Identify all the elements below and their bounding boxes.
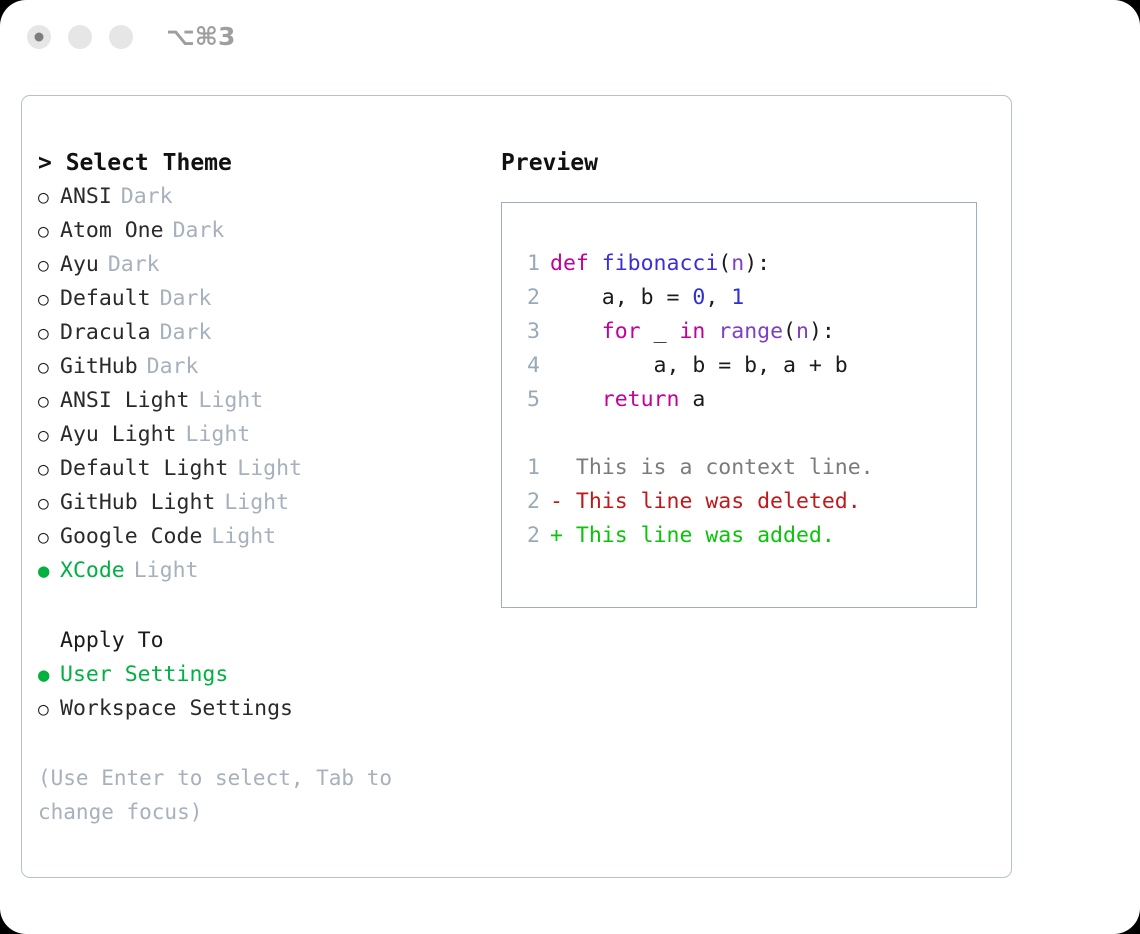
theme-option[interactable]: ○ANSI LightLight — [38, 384, 478, 418]
line-number: 2 — [512, 485, 550, 519]
theme-option[interactable]: ○Ayu LightLight — [38, 418, 478, 452]
radio-unselected-icon: ○ — [38, 283, 60, 317]
code-preview: 1def fibonacci(n):2 a, b = 0, 13 for _ i… — [512, 247, 972, 553]
line-number: 1 — [512, 247, 550, 281]
theme-option[interactable]: ●XCodeLight — [38, 554, 478, 588]
window-dot-minimize[interactable] — [68, 25, 92, 49]
code-token — [550, 387, 602, 412]
preview-column: Preview 1def fibonacci(n):2 a, b = 0, 13… — [501, 146, 991, 608]
code-token: a, b = — [550, 285, 692, 310]
theme-option-label: ANSI — [60, 180, 112, 214]
code-token: in — [679, 319, 705, 344]
line-number: 1 — [512, 451, 550, 485]
code-line-content: a, b = 0, 1 — [550, 281, 744, 315]
theme-option-label: XCode — [60, 554, 125, 588]
theme-option[interactable]: ○GitHub LightLight — [38, 486, 478, 520]
apply-to-list[interactable]: ●User Settings○Workspace Settings — [38, 658, 478, 726]
code-token: ( — [718, 251, 731, 276]
window-controls — [27, 25, 133, 49]
radio-unselected-icon: ○ — [38, 181, 60, 215]
theme-option-label: Atom One — [60, 214, 164, 248]
theme-option[interactable]: ○Google CodeLight — [38, 520, 478, 554]
diff-line: 2+ This line was added. — [512, 519, 972, 553]
code-token: ): — [809, 319, 835, 344]
code-token — [705, 319, 718, 344]
apply-to-option-label: User Settings — [60, 658, 228, 692]
code-token: 0 — [692, 285, 705, 310]
theme-option[interactable]: ○ANSIDark — [38, 180, 478, 214]
theme-option-variant: Light — [186, 418, 251, 452]
code-line: 2 a, b = 0, 1 — [512, 281, 972, 315]
code-line: 4 a, b = b, a + b — [512, 349, 972, 383]
theme-option-label: Ayu — [60, 248, 99, 282]
preview-box: 1def fibonacci(n):2 a, b = 0, 13 for _ i… — [501, 202, 977, 608]
radio-unselected-icon: ○ — [38, 521, 60, 555]
code-line: 5 return a — [512, 383, 972, 417]
radio-selected-icon: ● — [38, 554, 60, 588]
diff-line-content: - This line was deleted. — [550, 485, 861, 519]
theme-option-label: Default Light — [60, 452, 228, 486]
radio-unselected-icon: ○ — [38, 693, 60, 727]
code-line-content: for _ in range(n): — [550, 315, 835, 349]
apply-to-heading: Apply To — [60, 624, 478, 658]
code-token: _ — [641, 319, 680, 344]
code-token: for — [602, 319, 641, 344]
code-token: fibonacci — [602, 251, 719, 276]
radio-unselected-icon: ○ — [38, 385, 60, 419]
theme-option-variant: Light — [134, 554, 199, 588]
code-token — [550, 319, 602, 344]
diff-line: 1 This is a context line. — [512, 451, 972, 485]
theme-option-variant: Dark — [147, 350, 199, 384]
diff-line: 2- This line was deleted. — [512, 485, 972, 519]
preview-heading: Preview — [501, 146, 991, 180]
theme-option-variant: Dark — [160, 282, 212, 316]
theme-option[interactable]: ○DraculaDark — [38, 316, 478, 350]
window-dot-close-inner — [35, 33, 44, 42]
line-number: 2 — [512, 281, 550, 315]
code-token: def — [550, 251, 602, 276]
window-dot-maximize[interactable] — [109, 25, 133, 49]
theme-option[interactable]: ○GitHubDark — [38, 350, 478, 384]
theme-option-label: GitHub Light — [60, 486, 215, 520]
theme-option-variant: Light — [198, 384, 263, 418]
theme-option-variant: Dark — [173, 214, 225, 248]
code-token: range — [718, 319, 783, 344]
apply-to-option[interactable]: ○Workspace Settings — [38, 692, 478, 726]
apply-to-option[interactable]: ●User Settings — [38, 658, 478, 692]
line-number: 3 — [512, 315, 550, 349]
theme-option-label: Google Code — [60, 520, 202, 554]
keyboard-hint-text: (Use Enter to select, Tab to change focu… — [38, 761, 438, 829]
radio-unselected-icon: ○ — [38, 249, 60, 283]
theme-option-variant: Light — [224, 486, 289, 520]
code-token: a, b = b, a + b — [550, 353, 848, 378]
theme-option-label: Ayu Light — [60, 418, 177, 452]
select-theme-heading: > Select Theme — [38, 146, 478, 180]
theme-option-label: Default — [60, 282, 151, 316]
diff-line-content: + This line was added. — [550, 519, 835, 553]
main-panel: > Select Theme ○ANSIDark○Atom OneDark○Ay… — [21, 95, 1012, 878]
theme-option-variant: Light — [237, 452, 302, 486]
theme-option-label: Dracula — [60, 316, 151, 350]
theme-option[interactable]: ○DefaultDark — [38, 282, 478, 316]
code-token: a — [679, 387, 705, 412]
line-number: 5 — [512, 383, 550, 417]
code-token: , — [705, 285, 731, 310]
app-window: ⌥⌘3 > Select Theme ○ANSIDark○Atom OneDar… — [0, 0, 1140, 934]
radio-unselected-icon: ○ — [38, 487, 60, 521]
radio-unselected-icon: ○ — [38, 351, 60, 385]
code-line-content: return a — [550, 383, 705, 417]
code-token: return — [602, 387, 680, 412]
code-blank-line — [512, 417, 972, 451]
line-number: 2 — [512, 519, 550, 553]
code-line: 1def fibonacci(n): — [512, 247, 972, 281]
code-token: n — [731, 251, 744, 276]
theme-option[interactable]: ○Atom OneDark — [38, 214, 478, 248]
theme-option-variant: Dark — [121, 180, 173, 214]
title-bar: ⌥⌘3 — [0, 0, 1140, 78]
code-line: 3 for _ in range(n): — [512, 315, 972, 349]
code-token: ( — [783, 319, 796, 344]
theme-option-variant: Dark — [160, 316, 212, 350]
radio-unselected-icon: ○ — [38, 453, 60, 487]
radio-unselected-icon: ○ — [38, 215, 60, 249]
line-number: 4 — [512, 349, 550, 383]
theme-option-label: ANSI Light — [60, 384, 189, 418]
radio-unselected-icon: ○ — [38, 419, 60, 453]
radio-selected-icon: ● — [38, 658, 60, 692]
theme-option-label: GitHub — [60, 350, 138, 384]
code-token: 1 — [731, 285, 744, 310]
theme-option-variant: Dark — [108, 248, 160, 282]
theme-list[interactable]: ○ANSIDark○Atom OneDark○AyuDark○DefaultDa… — [38, 180, 478, 588]
theme-selection-column: > Select Theme ○ANSIDark○Atom OneDark○Ay… — [38, 146, 478, 829]
keyboard-shortcut-label: ⌥⌘3 — [166, 22, 235, 51]
radio-unselected-icon: ○ — [38, 317, 60, 351]
diff-line-content: This is a context line. — [550, 451, 874, 485]
code-token: n — [796, 319, 809, 344]
code-line-content: def fibonacci(n): — [550, 247, 770, 281]
apply-to-option-label: Workspace Settings — [60, 692, 293, 726]
theme-option[interactable]: ○AyuDark — [38, 248, 478, 282]
window-dot-close[interactable] — [27, 25, 51, 49]
theme-option-variant: Light — [211, 520, 276, 554]
theme-option[interactable]: ○Default LightLight — [38, 452, 478, 486]
code-line-content: a, b = b, a + b — [550, 349, 848, 383]
code-token: ): — [744, 251, 770, 276]
